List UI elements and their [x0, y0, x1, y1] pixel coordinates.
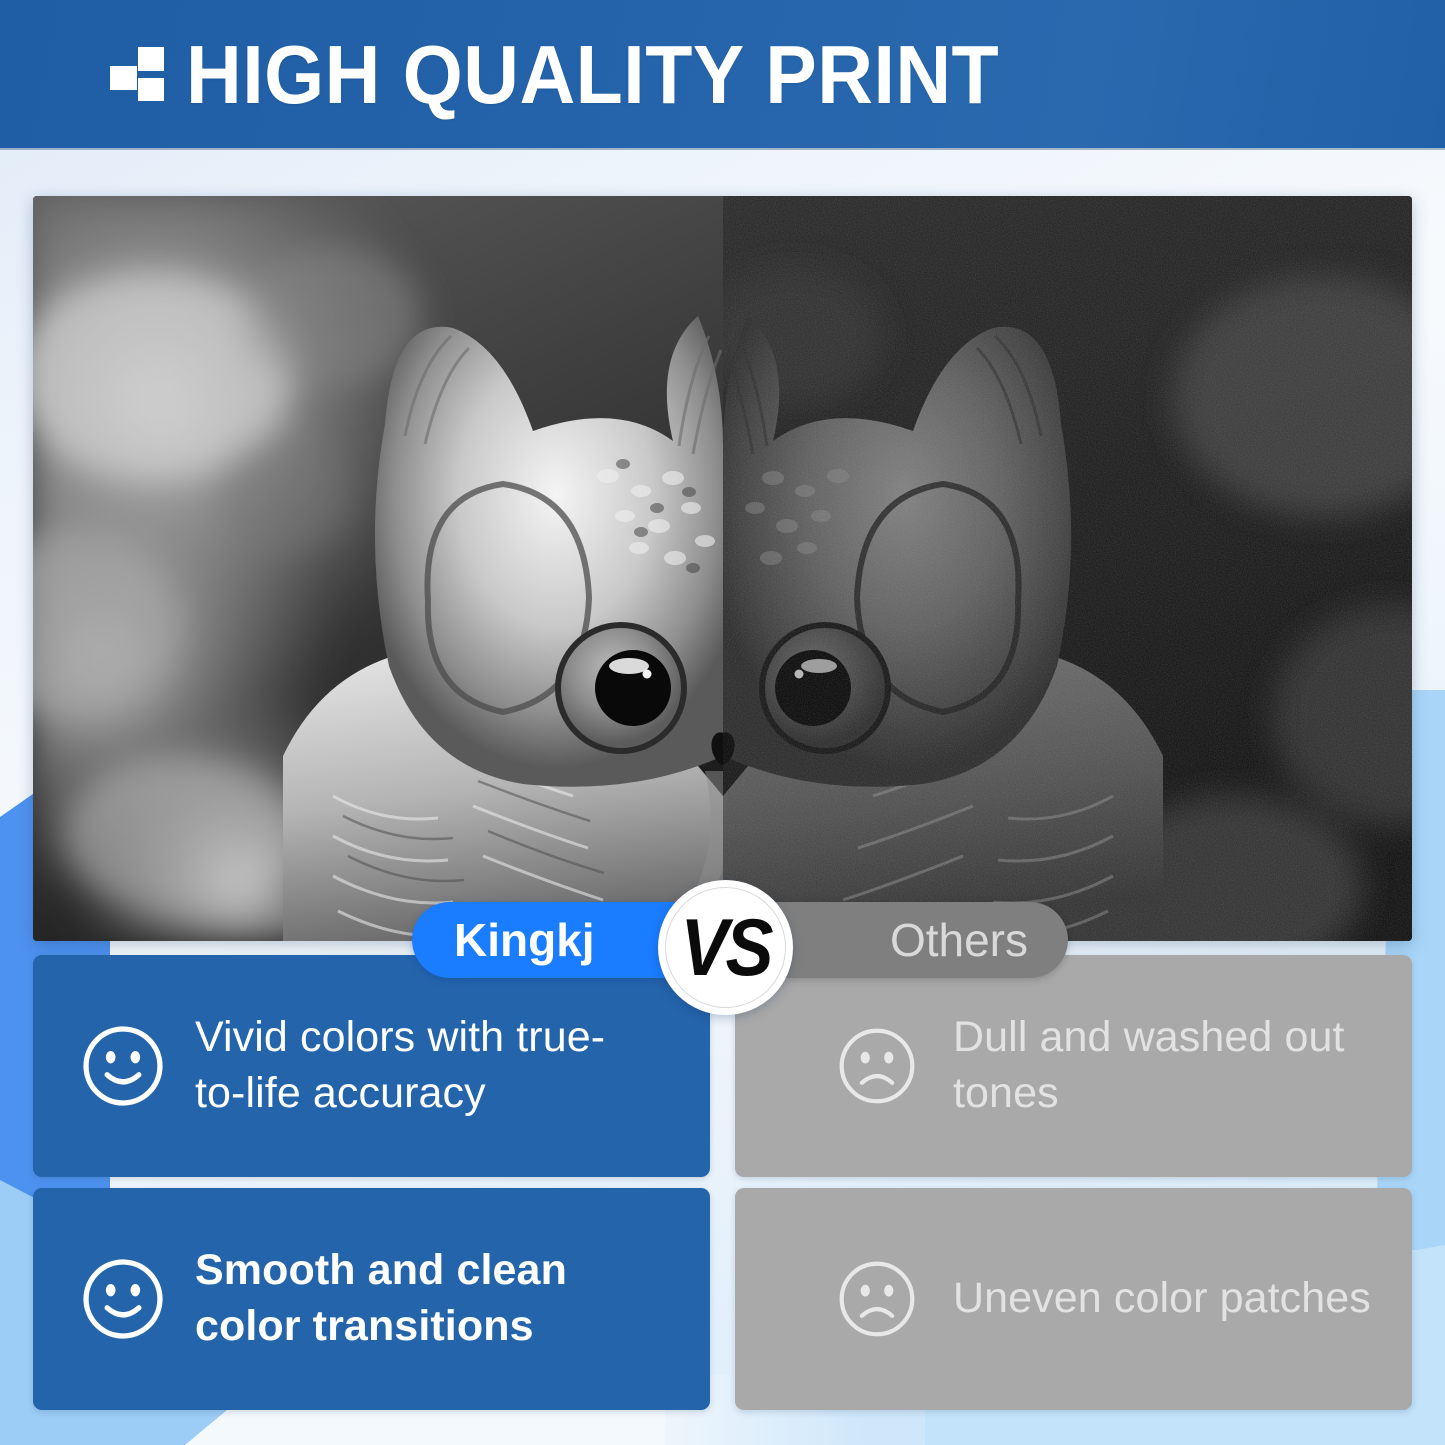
feature-card-text: Uneven color patches [953, 1271, 1371, 1327]
owl-comparison-photo [33, 196, 1412, 941]
brand-pill-label: Kingkj [454, 913, 595, 967]
three-squares-logo-icon [110, 47, 164, 101]
photo-left-clean-half [33, 196, 738, 941]
feature-card-others-patches: Uneven color patches [735, 1188, 1412, 1410]
feature-cards: Vivid colors with true-to-life accuracy … [33, 955, 1412, 1410]
feature-card-brand-transitions: Smooth and clean color transitions [33, 1188, 710, 1410]
feature-card-text: Vivid colors with true-to-life accuracy [195, 1010, 655, 1122]
sad-face-icon [835, 1024, 919, 1108]
owl-photo-illustration [33, 196, 1412, 941]
smiley-face-icon [79, 1022, 167, 1110]
vs-badge: VS [658, 880, 793, 1015]
header-banner: HIGH QUALITY PRINT [0, 0, 1445, 148]
comparison-vs-row: Kingkj Others VS [0, 902, 1445, 994]
feature-card-text: Smooth and clean color transitions [195, 1243, 655, 1355]
photo-right-grainy-half [703, 196, 1412, 941]
feature-card-text: Dull and washed out tones [953, 1010, 1412, 1122]
infographic-canvas: HIGH QUALITY PRINT [0, 0, 1445, 1445]
others-pill-label: Others [890, 913, 1028, 967]
smiley-face-icon [79, 1255, 167, 1343]
sad-face-icon [835, 1257, 919, 1341]
page-title: HIGH QUALITY PRINT [186, 33, 999, 116]
vs-badge-label: VS [680, 907, 770, 988]
